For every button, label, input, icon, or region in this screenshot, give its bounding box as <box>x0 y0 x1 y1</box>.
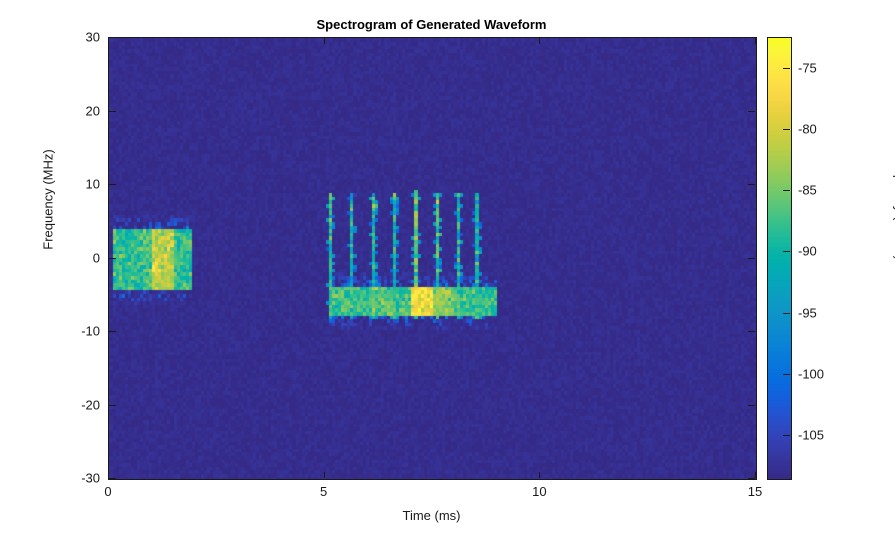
y-tick-mark <box>748 405 755 406</box>
y-tick-mark <box>748 184 755 185</box>
colorbar-tick-label: -95 <box>798 305 817 320</box>
colorbar-tick-mark <box>783 313 790 314</box>
y-tick-mark <box>109 258 116 259</box>
y-axis-label: Frequency (MHz) <box>41 110 56 290</box>
colorbar-tick-mark <box>783 190 790 191</box>
colorbar-tick-mark <box>783 251 790 252</box>
colorbar-tick-label: -85 <box>798 183 817 198</box>
colorbar-tick-label: -90 <box>798 244 817 259</box>
colorbar-tick-label: -80 <box>798 121 817 136</box>
y-tick-mark <box>748 258 755 259</box>
x-tick-mark <box>755 38 756 44</box>
x-tick-mark <box>324 472 325 478</box>
y-tick-mark <box>109 37 116 38</box>
x-tick-mark <box>755 472 756 478</box>
colorbar-gradient <box>768 38 791 479</box>
y-tick-label: -20 <box>56 397 100 412</box>
page-title: Spectrogram of Generated Waveform <box>0 17 863 32</box>
y-tick-mark <box>748 37 755 38</box>
x-tick-mark <box>108 38 109 44</box>
colorbar-tick-label: -75 <box>798 60 817 75</box>
y-tick-label: 10 <box>56 177 100 192</box>
colorbar-tick-mark <box>783 129 790 130</box>
x-tick-mark <box>108 472 109 478</box>
x-tick-mark <box>539 38 540 44</box>
y-tick-label: -10 <box>56 324 100 339</box>
colorbar-tick-mark <box>783 435 790 436</box>
y-tick-mark <box>109 405 116 406</box>
spectrogram-image <box>109 38 756 479</box>
y-tick-mark <box>109 478 116 479</box>
y-tick-label: 0 <box>56 250 100 265</box>
x-tick-mark <box>324 38 325 44</box>
y-tick-label: 20 <box>56 103 100 118</box>
y-tick-mark <box>109 184 116 185</box>
y-tick-mark <box>748 331 755 332</box>
x-axis-label: Time (ms) <box>108 508 755 523</box>
y-tick-mark <box>109 331 116 332</box>
spectrogram-axes <box>108 37 757 480</box>
colorbar <box>767 37 792 480</box>
x-tick-label: 5 <box>294 484 354 499</box>
colorbar-tick-label: -105 <box>798 428 824 443</box>
colorbar-tick-label: -100 <box>798 366 824 381</box>
y-tick-mark <box>109 111 116 112</box>
x-tick-label: 15 <box>725 484 785 499</box>
x-tick-label: 0 <box>78 484 138 499</box>
x-tick-label: 10 <box>509 484 569 499</box>
y-tick-mark <box>748 111 755 112</box>
y-tick-label: 30 <box>56 30 100 45</box>
y-tick-mark <box>748 478 755 479</box>
colorbar-tick-mark <box>783 68 790 69</box>
x-tick-mark <box>539 472 540 478</box>
spectrogram-figure: Spectrogram of Generated Waveform 302010… <box>0 0 895 540</box>
colorbar-tick-mark <box>783 374 790 375</box>
